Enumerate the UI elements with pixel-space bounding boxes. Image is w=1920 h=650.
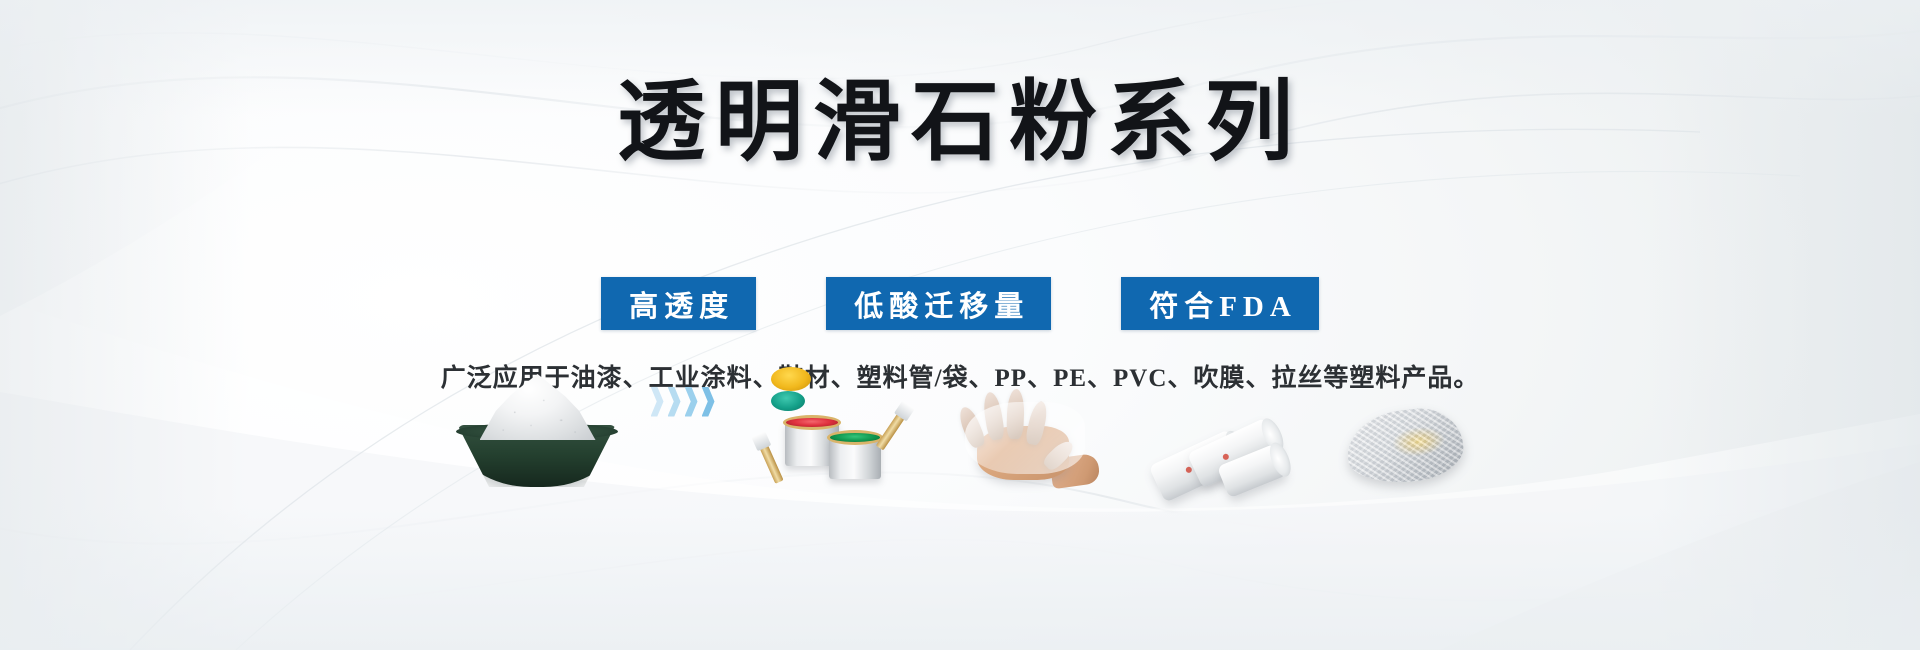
product-image-strip (0, 352, 1920, 492)
shoe-sole-icon (1339, 367, 1471, 492)
glove-film-sheen (965, 402, 1085, 474)
sole-shape (1343, 404, 1466, 488)
green-paint-can (829, 437, 881, 479)
roll-label-mark (1221, 453, 1229, 461)
feature-badge-low-acid-migration[interactable]: 低酸迁移量 (826, 277, 1051, 330)
yellow-paint-lid (771, 367, 811, 391)
feature-badge-fda-compliant[interactable]: 符合FDA (1121, 277, 1319, 330)
plastic-film-rolls-icon (1151, 367, 1291, 492)
brush-bristles (893, 401, 914, 422)
roll-end-cap (1265, 440, 1294, 480)
chevron-right-icon (702, 387, 715, 417)
red-paint-surface (783, 415, 841, 430)
feature-badge-high-transparency[interactable]: 高透度 (601, 277, 756, 330)
talc-powder-bowl-icon (450, 367, 625, 492)
gloved-hand-icon (955, 367, 1105, 492)
chevron-right-icon (668, 387, 681, 417)
sole-tread-texture (1343, 404, 1466, 488)
paint-brush-icon (759, 444, 783, 484)
process-arrows-icon (651, 339, 755, 464)
teal-paint-lid (771, 391, 805, 411)
powder-texture-overlay (480, 374, 596, 440)
green-paint-surface (827, 430, 883, 445)
chevron-right-icon (685, 387, 698, 417)
product-banner: 透明滑石粉系列 高透度 低酸迁移量 符合FDA 广泛应用于油漆、工业涂料、鞋材、… (0, 0, 1920, 650)
feature-badge-list: 高透度 低酸迁移量 符合FDA (0, 277, 1920, 330)
roll-label-mark (1184, 466, 1192, 474)
banner-title: 透明滑石粉系列 (0, 76, 1920, 171)
chevron-right-icon (651, 387, 664, 417)
paint-brush-icon (875, 412, 905, 450)
paint-cans-icon (771, 367, 903, 492)
